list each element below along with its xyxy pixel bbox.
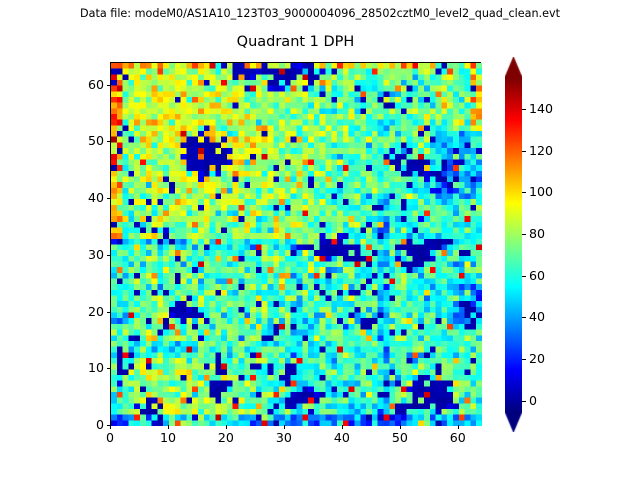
y-tick-mark [107,198,111,199]
colorbar-tick-label: 140 [529,102,553,116]
x-tick-label: 60 [450,431,466,445]
colorbar-tick-mark [522,151,526,152]
y-tick-mark [107,368,111,369]
colorbar[interactable]: 020406080100120140 [505,57,585,432]
y-tick-mark [107,255,111,256]
y-tick-label: 40 [68,191,104,205]
dph-heatmap-image[interactable] [111,63,482,426]
x-tick-mark [400,425,401,429]
colorbar-tick-label: 60 [529,269,545,283]
x-tick-label: 30 [276,431,292,445]
x-tick-mark [110,425,111,429]
y-tick-label: 50 [68,134,104,148]
y-tick-mark [107,141,111,142]
x-tick-mark [342,425,343,429]
y-tick-mark [107,425,111,426]
colorbar-tick-mark [522,401,526,402]
x-tick-mark [458,425,459,429]
x-tick-label: 20 [218,431,234,445]
data-file-suptitle: Data file: modeM0/AS1A10_123T03_90000040… [0,7,640,20]
colorbar-tick-label: 100 [529,185,553,199]
y-tick-label: 10 [68,361,104,375]
colorbar-tick-mark [522,317,526,318]
y-tick-label: 60 [68,78,104,92]
colorbar-ticks: 020406080100120140 [505,57,585,432]
y-tick-mark [107,312,111,313]
x-tick-mark [284,425,285,429]
matplotlib-figure: Data file: modeM0/AS1A10_123T03_90000040… [0,0,640,480]
x-tick-label: 0 [106,431,114,445]
colorbar-tick-mark [522,109,526,110]
x-tick-label: 10 [160,431,176,445]
x-tick-label: 50 [392,431,408,445]
x-tick-label: 40 [334,431,350,445]
colorbar-tick-label: 40 [529,310,545,324]
colorbar-tick-label: 0 [529,394,537,408]
colorbar-tick-label: 80 [529,227,545,241]
x-tick-mark [226,425,227,429]
colorbar-tick-mark [522,192,526,193]
heatmap-axes[interactable] [110,62,481,425]
colorbar-tick-mark [522,234,526,235]
plot-title: Quadrant 1 DPH [110,33,481,51]
colorbar-tick-label: 20 [529,352,545,366]
colorbar-tick-mark [522,359,526,360]
y-tick-mark [107,85,111,86]
x-tick-mark [168,425,169,429]
y-tick-label: 0 [68,418,104,432]
colorbar-tick-label: 120 [529,144,553,158]
colorbar-tick-mark [522,276,526,277]
y-tick-label: 30 [68,248,104,262]
y-tick-label: 20 [68,305,104,319]
